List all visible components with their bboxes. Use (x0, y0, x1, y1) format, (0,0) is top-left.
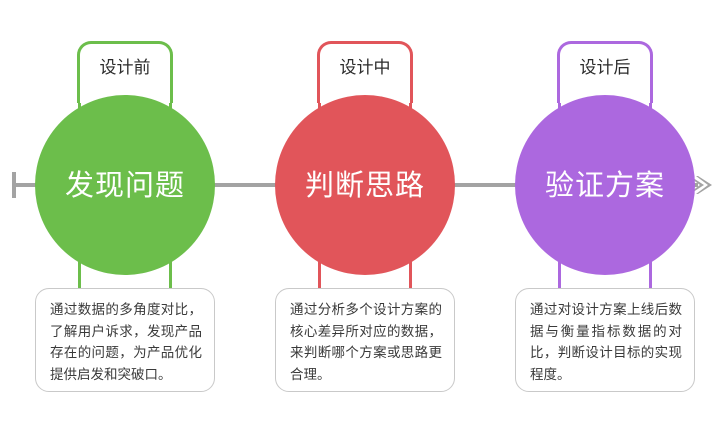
stage-circle-label-before: 发现问题 (65, 170, 185, 200)
stage-group-after: 设计后 验证方案 通过对设计方案上线后数据与衡量指标数据的对比，判断设计目标的实… (485, 0, 720, 429)
description-text-before: 通过数据的多角度对比，了解用户诉求，发现产品存在的问题，为产品优化提供启发和突破… (50, 300, 202, 386)
phase-label-during: 设计中 (317, 58, 413, 78)
description-card-before: 通过数据的多角度对比，了解用户诉求，发现产品存在的问题，为产品优化提供启发和突破… (35, 288, 215, 392)
diagram-canvas: 设计前 发现问题 通过数据的多角度对比，了解用户诉求，发现产品存在的问题，为产品… (0, 0, 720, 429)
stage-circle-during[interactable]: 判断思路 (275, 95, 455, 275)
stage-circle-label-during: 判断思路 (305, 170, 425, 200)
stage-group-before: 设计前 发现问题 通过数据的多角度对比，了解用户诉求，发现产品存在的问题，为产品… (5, 0, 245, 429)
stage-circle-before[interactable]: 发现问题 (35, 95, 215, 275)
description-text-after: 通过对设计方案上线后数据与衡量指标数据的对比，判断设计目标的实现程度。 (530, 300, 682, 386)
stage-group-during: 设计中 判断思路 通过分析多个设计方案的核心差异所对应的数据，来判断哪个方案或思… (245, 0, 485, 429)
phase-label-after: 设计后 (557, 58, 653, 78)
phase-label-before: 设计前 (77, 58, 173, 78)
stage-circle-label-after: 验证方案 (545, 170, 665, 200)
description-text-during: 通过分析多个设计方案的核心差异所对应的数据，来判断哪个方案或思路更合理。 (290, 300, 442, 386)
description-card-after: 通过对设计方案上线后数据与衡量指标数据的对比，判断设计目标的实现程度。 (515, 288, 695, 392)
stage-circle-after[interactable]: 验证方案 (515, 95, 695, 275)
description-card-during: 通过分析多个设计方案的核心差异所对应的数据，来判断哪个方案或思路更合理。 (275, 288, 455, 392)
